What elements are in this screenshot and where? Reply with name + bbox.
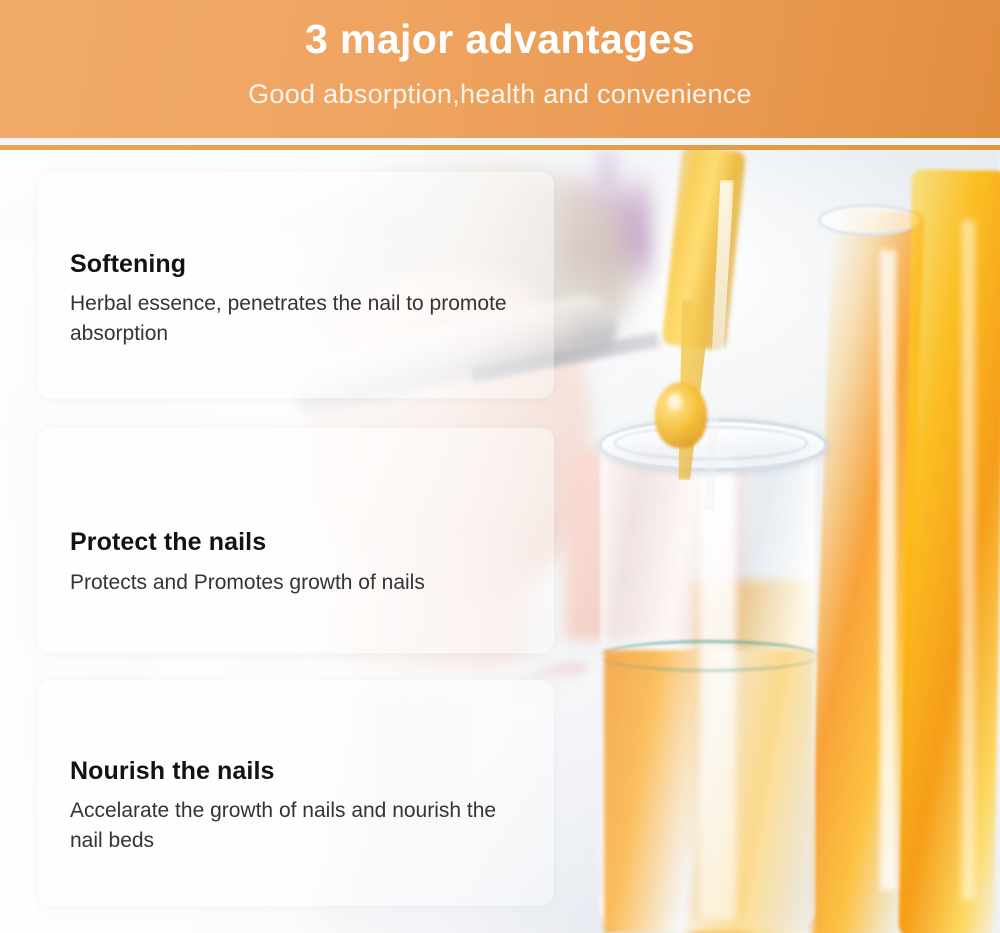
- advantage-card-nourish-the-nails: Nourish the nails Accelarate the growth …: [38, 680, 554, 906]
- card-title: Softening: [70, 249, 522, 280]
- card-body: Protect the nails Protects and Promotes …: [70, 527, 522, 597]
- advantages-infographic: 3 major advantages Good absorption,healt…: [0, 0, 1000, 933]
- header-banner: 3 major advantages Good absorption,healt…: [0, 0, 1000, 138]
- divider-gap: [0, 138, 1000, 145]
- card-body: Softening Herbal essence, penetrates the…: [70, 249, 522, 349]
- card-title: Protect the nails: [70, 527, 522, 558]
- page-title: 3 major advantages: [0, 16, 1000, 63]
- advantage-card-softening: Softening Herbal essence, penetrates the…: [38, 172, 554, 398]
- page-subtitle: Good absorption,health and convenience: [0, 78, 1000, 110]
- advantage-card-protect-the-nails: Protect the nails Protects and Promotes …: [38, 428, 554, 653]
- card-title: Nourish the nails: [70, 756, 522, 787]
- card-description: Accelarate the growth of nails and nouri…: [70, 796, 522, 856]
- card-description: Herbal essence, penetrates the nail to p…: [70, 289, 522, 349]
- divider-rule: [0, 145, 1000, 150]
- card-description: Protects and Promotes growth of nails: [70, 568, 522, 598]
- card-body: Nourish the nails Accelarate the growth …: [70, 756, 522, 856]
